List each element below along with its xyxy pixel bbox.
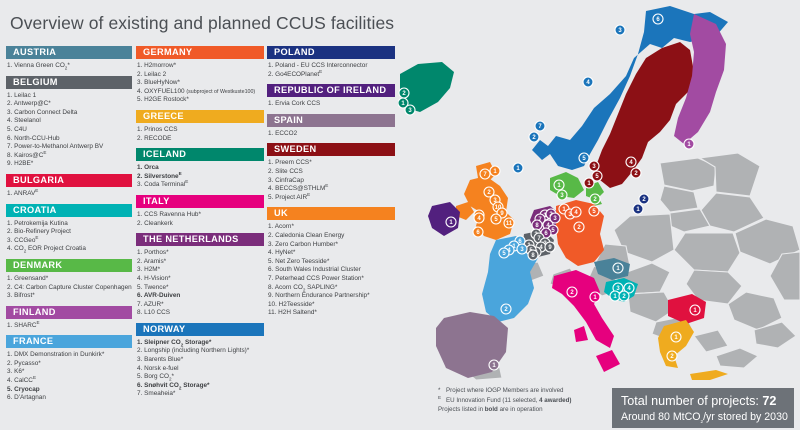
project-item: 5. Twence* (137, 284, 264, 293)
project-list: 1. H2morrow*2. Leilac 23. BlueHyNow*4. O… (136, 62, 264, 105)
project-item: 4. Steelanol (7, 117, 132, 126)
map-marker-denmark-1[interactable]: 1 (554, 180, 564, 190)
project-item: 3. Bifrost* (7, 292, 132, 301)
project-item: 7. Power-to-Methanol Antwerp BV (7, 143, 132, 152)
project-item: 3. Zero Carbon Humber* (268, 241, 395, 250)
project-list: 1. ECCO2 (267, 130, 395, 139)
country-block-finland: FINLAND1. SHARCE (6, 306, 132, 331)
project-item: 11. H2H Saltend* (268, 309, 395, 318)
project-item: 2. C4: Carbon Capture Cluster Copenhagen (7, 284, 132, 293)
country-block-republic-of-ireland: REPUBLIC OF IRELAND1. Ervia Cork CCS (267, 84, 395, 109)
country-header-denmark: DENMARK (6, 259, 132, 272)
project-item: 9. H2BE* (7, 160, 132, 169)
country-column-3: POLAND1. Poland - EU CCS Interconnector2… (267, 46, 395, 323)
map-marker-germany-2[interactable]: 2 (574, 222, 584, 232)
country-block-uk: UK1. Acorn*2. Caledonia Clean Energy3. Z… (267, 207, 395, 318)
map-marker-france-5[interactable]: 5 (499, 248, 509, 258)
project-item: 5. C4U (7, 126, 132, 135)
map-marker-italy-2[interactable]: 2 (567, 287, 577, 297)
project-item: 1. ANRAVE (7, 190, 132, 199)
country-header-bulgaria: BULGARIA (6, 174, 132, 187)
map-marker-finland-1[interactable]: 1 (684, 139, 694, 149)
project-list: 1. CCS Ravenna Hub*2. Cleankerk (136, 211, 264, 228)
project-item: 6. D'Artagnan (7, 394, 132, 403)
legend-superscript-e-icon: E (438, 396, 446, 406)
project-item: 1. Petrokemija Kutina (7, 220, 132, 229)
legend-text-iogp: Project where IOGP Members are involved (446, 387, 564, 394)
project-item: 3. Barents Blue* (137, 356, 264, 365)
project-item: 3. Carbon Connect Delta (7, 109, 132, 118)
country-header-italy: ITALY (136, 195, 264, 208)
project-item: 2. Slite CCS (268, 168, 395, 177)
map-marker-label: 11 (506, 221, 513, 227)
project-item: 1. SHARCE (7, 322, 132, 331)
project-list: 1. Porthos*2. Aramis*3. H2M*4. H-Vision*… (136, 249, 264, 318)
project-item: 1. Sleipner CO2 Storage* (137, 339, 264, 348)
map-marker-greece-1[interactable]: 1 (671, 332, 681, 342)
project-item: 3. Coda TerminalE (137, 181, 264, 190)
map-marker-belgium-8[interactable]: 8 (528, 250, 538, 260)
project-list: 1. Acorn*2. Caledonia Clean Energy3. Zer… (267, 223, 395, 318)
project-item: 8. Kairos@CE (7, 152, 132, 161)
project-item: 1. Prinos CCS (137, 126, 264, 135)
country-block-france: FRANCE1. DMX Demonstration in Dunkirk*2.… (6, 335, 132, 403)
project-item: 1. Greensand* (7, 275, 132, 284)
total-projects-value: 72 (762, 394, 776, 408)
map-marker-france-3[interactable]: 3 (517, 244, 527, 254)
country-block-denmark: DENMARK1. Greensand*2. C4: Carbon Captur… (6, 259, 132, 301)
map-marker-uk-11[interactable]: 11 (504, 218, 514, 228)
country-header-poland: POLAND (267, 46, 395, 59)
country-block-belgium: BELGIUM1. Leilac 12. Antwerp@C*3. Carbon… (6, 76, 132, 169)
country-column-2: GERMANY1. H2morrow*2. Leilac 23. BlueHyN… (136, 46, 264, 404)
project-item: 6. AVR-Duiven (137, 292, 264, 301)
country-block-norway: NORWAY1. Sleipner CO2 Storage*2. Longshi… (136, 323, 264, 399)
country-block-spain: SPAIN1. ECCO2 (267, 114, 395, 139)
project-item: 1. DMX Demonstration in Dunkirk* (7, 351, 132, 360)
map-marker-norway-6[interactable]: 6 (653, 14, 663, 24)
project-item: 4. OXYFUEL100 (subproject of Westkuste10… (137, 88, 264, 97)
project-list: 1. Preem CCS*2. Slite CCS3. CinfraCap4. … (267, 159, 395, 202)
project-item: 7. AZUR* (137, 301, 264, 310)
project-item: 5. Project AIRE (268, 194, 395, 203)
country-header-sweden: SWEDEN (267, 143, 395, 156)
project-item: 4. H-Vision* (137, 275, 264, 284)
map-marker-belgium-9[interactable]: 9 (545, 242, 555, 252)
page-title: Overview of existing and planned CCUS fa… (10, 13, 394, 34)
map-marker-austria-1[interactable]: 1 (613, 263, 623, 273)
map-marker-iceland-3[interactable]: 3 (405, 105, 415, 115)
project-item: 2. Cleankerk (137, 220, 264, 229)
country-header-belgium: BELGIUM (6, 76, 132, 89)
country-header-germany: GERMANY (136, 46, 264, 59)
legend-line-iogp: *Project where IOGP Members are involved (438, 386, 608, 396)
map-marker-norway-7[interactable]: 7 (535, 121, 545, 131)
project-item: 4. HyNet* (268, 249, 395, 258)
project-list: 1. Petrokemija Kutina2. Bio-Refinery Pro… (6, 220, 132, 254)
country-block-greece: GREECE1. Prinos CCS2. RECODE (136, 110, 264, 143)
project-item: 2. RECODE (137, 135, 264, 144)
project-item: 1. Preem CCS* (268, 159, 395, 168)
legend-line-eu-fund: EEU Innovation Fund (11 selected, 4 awar… (438, 396, 608, 406)
project-item: 1. Acorn* (268, 223, 395, 232)
project-list: 1. Poland - EU CCS Interconnector2. Go4E… (267, 62, 395, 79)
country-block-italy: ITALY1. CCS Ravenna Hub*2. Cleankerk (136, 195, 264, 228)
project-item: 2. Caledonia Clean Energy (268, 232, 395, 241)
project-list: 1. Leilac 12. Antwerp@C*3. Carbon Connec… (6, 92, 132, 169)
project-item: 7. Smeaheia* (137, 390, 264, 399)
project-item: 1. CCS Ravenna Hub* (137, 211, 264, 220)
project-item: 1. Poland - EU CCS Interconnector (268, 62, 395, 71)
map-marker-germany-4[interactable]: 4 (571, 207, 581, 217)
total-projects-box: Total number of projects: 72 Around 80 M… (612, 388, 794, 428)
map-marker-sweden-4[interactable]: 4 (626, 157, 636, 167)
country-header-finland: FINLAND (6, 306, 132, 319)
europe-ccus-map: 2136347251142135132211723109584116117234… (398, 0, 800, 386)
project-list: 1. Orca2. SilverstoneE3. Coda TerminalE (136, 164, 264, 190)
project-list: 1. Greensand*2. C4: Carbon Capture Clust… (6, 275, 132, 301)
project-item: 5. Net Zero Teesside* (268, 258, 395, 267)
project-list: 1. SHARCE (6, 322, 132, 331)
project-item: 6. Snøhvit CO2 Storage* (137, 382, 264, 391)
map-marker-poland-1[interactable]: 1 (633, 204, 643, 214)
map-marker-norway-2[interactable]: 2 (529, 132, 539, 142)
country-header-iceland: ICELAND (136, 148, 264, 161)
legend-line-bold-note: Projects listed in bold are in operation (438, 405, 608, 415)
map-marker-france-2[interactable]: 2 (501, 304, 511, 314)
country-block-germany: GERMANY1. H2morrow*2. Leilac 23. BlueHyN… (136, 46, 264, 105)
project-item: 5. H2GE Rostock* (137, 96, 264, 105)
country-block-bulgaria: BULGARIA1. ANRAVE (6, 174, 132, 199)
project-item: 2. Aramis* (137, 258, 264, 267)
map-marker-norway-4[interactable]: 4 (583, 77, 593, 87)
project-item: 4. CO2 EOR Project Croatia (7, 245, 132, 254)
map-marker-spain-1[interactable]: 1 (489, 360, 499, 370)
project-item: 1. H2morrow* (137, 62, 264, 71)
project-item: 7. Peterhead CCS Power Station* (268, 275, 395, 284)
country-block-sweden: SWEDEN1. Preem CCS*2. Slite CCS3. Cinfra… (267, 143, 395, 202)
project-list: 1. Sleipner CO2 Storage*2. Longship (inc… (136, 339, 264, 399)
project-list: 1. Ervia Cork CCS (267, 100, 395, 109)
project-item: 5. Cryocap (7, 386, 132, 395)
legend: *Project where IOGP Members are involved… (438, 386, 608, 415)
project-list: 1. Vienna Green CO2* (6, 62, 132, 71)
map-marker-uk-4[interactable]: 4 (474, 213, 484, 223)
map-marker-norway-1[interactable]: 1 (513, 163, 523, 173)
country-header-norway: NORWAY (136, 323, 264, 336)
project-item: 2. Longship (including Northern Lights)* (137, 347, 264, 356)
map-marker-denmark-2[interactable]: 2 (590, 194, 600, 204)
country-header-france: FRANCE (6, 335, 132, 348)
project-item: 1. Orca (137, 164, 264, 173)
project-list: 1. DMX Demonstration in Dunkirk*2. Pycas… (6, 351, 132, 403)
project-item: 2. Bio-Refinery Project (7, 228, 132, 237)
country-header-spain: SPAIN (267, 114, 395, 127)
project-item: 8. Acorn CO2 SAPLING* (268, 284, 395, 293)
country-header-the-netherlands: THE NETHERLANDS (136, 233, 264, 246)
map-marker-norway-5[interactable]: 5 (579, 153, 589, 163)
total-projects-label: Total number of projects: (621, 394, 762, 408)
map-marker-uk-6[interactable]: 6 (473, 227, 483, 237)
map-marker-bulgaria-1[interactable]: 1 (690, 305, 700, 315)
map-marker-iceland-2[interactable]: 2 (399, 88, 409, 98)
project-item: 9. Northern Endurance Partnership* (268, 292, 395, 301)
project-item: 1. ECCO2 (268, 130, 395, 139)
map-marker-uk-5[interactable]: 5 (491, 214, 501, 224)
project-item: 3. K6* (7, 368, 132, 377)
country-header-uk: UK (267, 207, 395, 220)
project-list: 1. ANRAVE (6, 190, 132, 199)
project-item: 1. Vienna Green CO2* (7, 62, 132, 71)
country-block-the-netherlands: THE NETHERLANDS1. Porthos*2. Aramis*3. H… (136, 233, 264, 318)
map-marker-sweden-3[interactable]: 3 (589, 161, 599, 171)
map-marker-germany-5[interactable]: 5 (589, 206, 599, 216)
country-header-republic-of-ireland: REPUBLIC OF IRELAND (267, 84, 395, 97)
country-block-iceland: ICELAND1. Orca2. SilverstoneE3. Coda Ter… (136, 148, 264, 190)
project-item: 1. Porthos* (137, 249, 264, 258)
project-item: 1. Leilac 1 (7, 92, 132, 101)
project-item: 2. Pycasso* (7, 360, 132, 369)
country-block-poland: POLAND1. Poland - EU CCS Interconnector2… (267, 46, 395, 79)
infographic-page: Overview of existing and planned CCUS fa… (0, 0, 800, 430)
project-item: 4. BECCS@STHLME (268, 185, 395, 194)
map-marker-denmark-3[interactable]: 3 (557, 190, 567, 200)
project-item: 3. CinfraCap (268, 177, 395, 186)
legend-text-eu-fund: EU Innovation Fund (11 selected, 4 award… (446, 397, 571, 404)
country-block-austria: AUSTRIA1. Vienna Green CO2* (6, 46, 132, 71)
map-marker-sweden-5[interactable]: 5 (592, 171, 602, 181)
project-item: 5. Borg CO2* (137, 373, 264, 382)
project-item: 2. Leilac 2 (137, 71, 264, 80)
country-header-greece: GREECE (136, 110, 264, 123)
map-marker-uk-7[interactable]: 7 (480, 169, 490, 179)
project-item: 3. H2M* (137, 266, 264, 275)
country-header-austria: AUSTRIA (6, 46, 132, 59)
project-item: 4. CalCCE (7, 377, 132, 386)
map-marker-netherlands-8[interactable]: 8 (532, 220, 542, 230)
map-marker-greece-2[interactable]: 2 (667, 351, 677, 361)
map-marker-sweden-1[interactable]: 1 (584, 178, 594, 188)
map-marker-sweden-2[interactable]: 2 (631, 168, 641, 178)
map-marker-italy-1[interactable]: 1 (590, 292, 600, 302)
country-block-croatia: CROATIA1. Petrokemija Kutina2. Bio-Refin… (6, 204, 132, 254)
project-item: 3. BlueHyNow* (137, 79, 264, 88)
country-column-1: AUSTRIA1. Vienna Green CO2*BELGIUM1. Lei… (6, 46, 132, 408)
project-item: 2. Go4ECOPlanetE (268, 71, 395, 80)
project-item: 6. North-CCU-Hub (7, 135, 132, 144)
map-marker-norway-3[interactable]: 3 (615, 25, 625, 35)
legend-text-bold-note: Projects listed in bold are in operation (438, 406, 543, 413)
project-item: 10. H2Teesside* (268, 301, 395, 310)
project-item: 6. South Wales Industrial Cluster (268, 266, 395, 275)
project-item: 1. Ervia Cork CCS (268, 100, 395, 109)
map-marker-uk-1[interactable]: 1 (490, 166, 500, 176)
total-projects-line: Total number of projects: 72 (621, 393, 794, 410)
map-marker-croatia-2[interactable]: 2 (619, 291, 629, 301)
project-item: 4. Norsk e-fuel (137, 365, 264, 374)
project-item: 3. CCGeoE (7, 237, 132, 246)
project-list: 1. Prinos CCS2. RECODE (136, 126, 264, 143)
map-marker-ireland-1[interactable]: 1 (446, 217, 456, 227)
project-item: 2. Antwerp@C* (7, 100, 132, 109)
country-header-croatia: CROATIA (6, 204, 132, 217)
stored-capacity-line: Around 80 MtCO2/yr stored by 2030 (621, 410, 794, 425)
project-item: 8. L10 CCS (137, 309, 264, 318)
map-marker-poland-2[interactable]: 2 (639, 194, 649, 204)
